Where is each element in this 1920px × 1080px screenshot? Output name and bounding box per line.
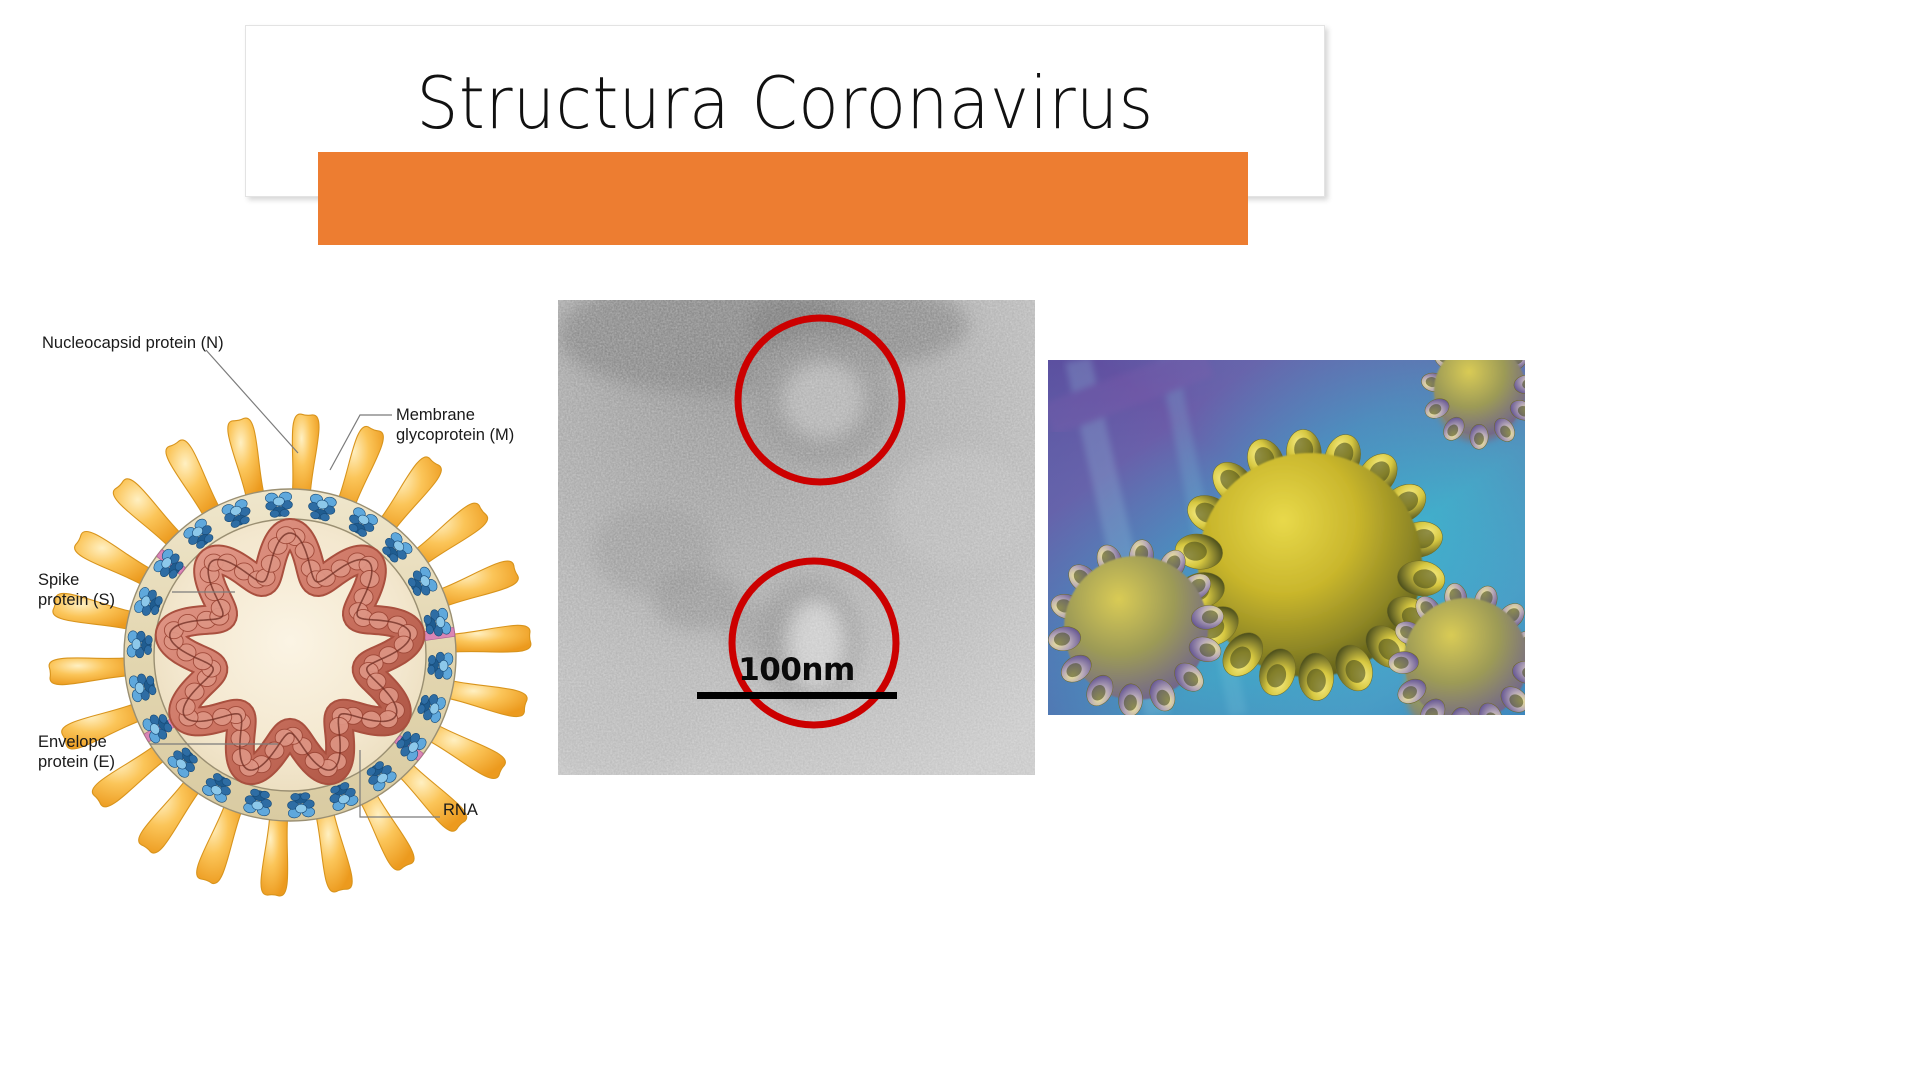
spike-protein: [337, 426, 383, 508]
slide-canvas: Structura Coronavirus: [0, 0, 1920, 1080]
label-rna: RNA: [443, 800, 478, 820]
spike-protein: [261, 814, 288, 896]
nucleocapsid-bead: [360, 570, 379, 587]
electron-micrograph: 100nm: [558, 300, 1035, 775]
accent-bar: [318, 152, 1248, 245]
spike-protein: [449, 625, 531, 652]
label-nucleocapsid-protein: Nucleocapsid protein (N): [42, 333, 224, 353]
spike-protein: [359, 791, 414, 870]
spike-protein: [197, 802, 243, 884]
coronavirus-diagram: Nucleocapsid protein (N) Membrane glycop…: [30, 320, 550, 910]
nucleocapsid-bead: [218, 554, 237, 571]
spike-protein: [228, 418, 265, 501]
scale-bar-label: 100nm: [558, 655, 1035, 686]
label-spike-protein: Spike protein (S): [38, 570, 115, 610]
spike-protein: [437, 561, 519, 607]
micrograph-svg: [558, 300, 1035, 775]
label-envelope-protein: Envelope protein (E): [38, 732, 115, 772]
spike-protein: [426, 724, 505, 779]
sem-svg: [1048, 360, 1525, 715]
nucleocapsid-bead: [176, 698, 195, 715]
spike-protein: [166, 440, 221, 519]
sem-spike-knob: [1470, 424, 1489, 449]
micrograph-grain: [558, 300, 1035, 775]
spike-protein: [444, 680, 527, 717]
nucleocapsid-bead: [379, 711, 398, 728]
spike-protein: [315, 809, 352, 892]
scale-bar-line: [697, 692, 897, 699]
scale-bar: 100nm: [558, 655, 1035, 699]
spike-protein: [292, 414, 319, 496]
sem-virion-render: [1048, 360, 1525, 715]
label-membrane-glycoprotein: Membrane glycoprotein (M): [396, 405, 514, 445]
page-title: Structura Coronavirus: [288, 48, 1282, 158]
spike-protein: [49, 658, 131, 685]
